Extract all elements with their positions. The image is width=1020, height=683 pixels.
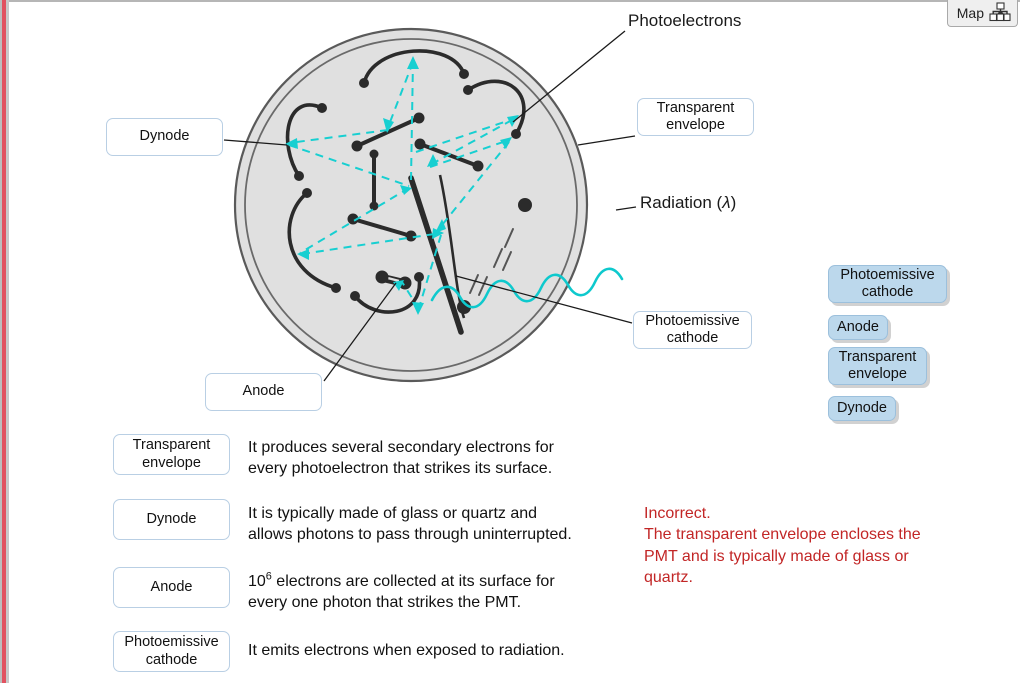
diagram-label-dynode[interactable]: Dynode bbox=[106, 118, 223, 156]
chip-photoemissive-cathode-label: Photoemissivecathode bbox=[840, 267, 934, 301]
diagram-label-photoemissive-cathode[interactable]: Photoemissivecathode bbox=[633, 311, 752, 349]
label-radiation-text: Radiation ( bbox=[640, 193, 722, 212]
chip-anode-label: Anode bbox=[837, 319, 879, 336]
diagram-label-anode-text: Anode bbox=[243, 383, 285, 400]
definition-row-1-line1: It produces several secondary electrons … bbox=[248, 439, 554, 456]
definition-row-3-line2: every one photon that strikes the PMT. bbox=[248, 594, 521, 611]
drop-target-row-4[interactable]: Photoemissivecathode bbox=[113, 631, 230, 672]
definition-row-1-line2: every photoelectron that strikes its sur… bbox=[248, 460, 552, 477]
diagram-label-transparent-envelope-text: Transparentenvelope bbox=[657, 100, 735, 134]
drop-target-row-3[interactable]: Anode bbox=[113, 567, 230, 608]
diagram-label-anode[interactable]: Anode bbox=[205, 373, 322, 411]
definition-row-3: 106 electrons are collected at its surfa… bbox=[248, 571, 648, 613]
chip-transparent-envelope-label: Transparentenvelope bbox=[839, 349, 917, 383]
definition-row-2-line1: It is typically made of glass or quartz … bbox=[248, 505, 537, 522]
app-stage: Map bbox=[0, 0, 1020, 683]
chip-photoemissive-cathode[interactable]: Photoemissivecathode bbox=[828, 265, 947, 303]
drop-target-row-1-label: Transparentenvelope bbox=[133, 437, 211, 471]
definition-row-3-line1: 106 electrons are collected at its surfa… bbox=[248, 573, 555, 590]
definition-row-3-rest: electrons are collected at its surface f… bbox=[272, 573, 555, 590]
definition-row-4: It emits electrons when exposed to radia… bbox=[248, 640, 648, 661]
feedback-line-2: The transparent envelope encloses the bbox=[644, 526, 921, 543]
definition-row-2-line2: allows photons to pass through uninterru… bbox=[248, 526, 572, 543]
feedback-line-4: quartz. bbox=[644, 569, 693, 586]
diagram-label-photoemissive-cathode-text: Photoemissivecathode bbox=[645, 313, 739, 347]
lambda-symbol: λ bbox=[722, 193, 730, 212]
feedback-line-1: Incorrect. bbox=[644, 505, 711, 522]
chip-anode[interactable]: Anode bbox=[828, 315, 888, 340]
definition-row-1: It produces several secondary electrons … bbox=[248, 437, 648, 479]
diagram-label-dynode-text: Dynode bbox=[140, 128, 190, 145]
chip-transparent-envelope[interactable]: Transparentenvelope bbox=[828, 347, 927, 385]
feedback-line-3: PMT and is typically made of glass or bbox=[644, 548, 909, 565]
drop-target-row-3-label: Anode bbox=[151, 579, 193, 596]
label-radiation: Radiation (λ) bbox=[640, 193, 736, 213]
definition-row-4-line1: It emits electrons when exposed to radia… bbox=[248, 642, 565, 659]
drop-target-row-4-label: Photoemissivecathode bbox=[124, 634, 218, 668]
drop-target-row-2-label: Dynode bbox=[147, 511, 197, 528]
chip-dynode-label: Dynode bbox=[837, 400, 887, 417]
drop-target-row-1[interactable]: Transparentenvelope bbox=[113, 434, 230, 475]
diagram-label-transparent-envelope[interactable]: Transparentenvelope bbox=[637, 98, 754, 136]
definition-row-2: It is typically made of glass or quartz … bbox=[248, 503, 648, 545]
label-radiation-text-end: ) bbox=[731, 193, 737, 212]
definition-row-3-base: 10 bbox=[248, 573, 266, 590]
chip-dynode[interactable]: Dynode bbox=[828, 396, 896, 421]
feedback-message: Incorrect. The transparent envelope encl… bbox=[644, 503, 989, 588]
label-photoelectrons: Photoelectrons bbox=[628, 11, 741, 31]
drop-target-row-2[interactable]: Dynode bbox=[113, 499, 230, 540]
